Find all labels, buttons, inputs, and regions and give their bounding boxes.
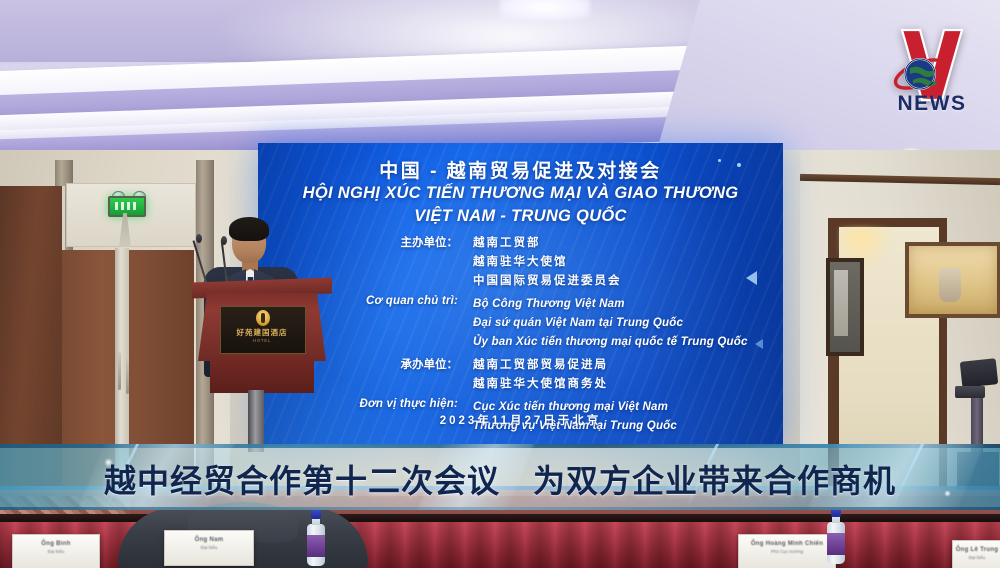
- lower-third-banner: 越中经贸合作第十二次会议 为双方企业带来合作商机: [0, 444, 1000, 510]
- screen-organizer-row: 主办单位：越南工贸部越南驻华大使馆中国国际贸易促进委员会: [258, 234, 783, 291]
- screen-organizer-value: 越南工贸部贸易促进局: [473, 356, 783, 375]
- framed-artwork: [826, 258, 864, 356]
- screen-organizer-values: 越南工贸部越南驻华大使馆中国国际贸易促进委员会: [473, 234, 783, 291]
- nameplate-name: Ông Nam: [165, 537, 253, 543]
- nameplate: Ông Nam Đại biểu: [164, 530, 254, 566]
- screen-organizer-values: 越南工贸部贸易促进局越南驻华大使馆商务处: [473, 356, 783, 394]
- screen-organizer-value: Ủy ban Xúc tiến thương mại quốc tế Trung…: [473, 333, 783, 352]
- nameplate-role: Đại biểu: [165, 545, 253, 550]
- podium-plaque-subtext: HOTEL: [222, 338, 302, 343]
- nameplate-name: Ông Bình: [13, 541, 99, 547]
- bottle-cap: [311, 510, 321, 519]
- nameplate-name: Ông Lê Trung: [953, 547, 1000, 553]
- screen-organizer-values: Bộ Công Thương Việt NamĐại sứ quán Việt …: [473, 295, 783, 352]
- hotel-emblem-icon: [256, 310, 270, 326]
- headline-text: 越中经贸合作第十二次会议 为双方企业带来合作商机: [0, 456, 1000, 502]
- screen-organizer-value: Đại sứ quán Việt Nam tại Trung Quốc: [473, 314, 783, 333]
- bottle-neck: [832, 516, 840, 523]
- nameplate: Ông Bình Đại biểu: [12, 534, 100, 568]
- screen-organizer-value: 越南驻华大使馆商务处: [473, 375, 783, 394]
- screen-title-vietnamese-line2: VIỆT NAM - TRUNG QUỐC: [258, 207, 783, 226]
- screen-organizer-value: 越南驻华大使馆: [473, 253, 783, 272]
- screen-date-line: 2023年11月27日于北京: [258, 412, 783, 428]
- screen-organizer-value: 越南工贸部: [473, 234, 783, 253]
- nameplate: Ông Lê Trung Đại biểu: [952, 540, 1000, 568]
- water-bottle: [826, 508, 846, 564]
- screen-organizer-row: Cơ quan chủ trì:Bộ Công Thương Việt NamĐ…: [258, 295, 783, 352]
- broadcast-frame: 中国 - 越南贸易促进及对接会 HỘI NGHỊ XÚC TIẾN THƯƠNG…: [0, 0, 1000, 568]
- speaker-hair: [229, 217, 269, 241]
- exit-sign-icon: [108, 196, 146, 217]
- podium-body: [210, 359, 314, 393]
- screen-title-chinese: 中国 - 越南贸易促进及对接会: [258, 156, 783, 183]
- door-left-far[interactable]: [0, 186, 65, 486]
- screen-organizer-value: 中国国际贸易促进委员会: [473, 272, 783, 291]
- wall-niche: [905, 242, 1000, 318]
- vnews-logo-wordmark: NEWS: [886, 92, 978, 116]
- screen-title-vietnamese-line1: HỘI NGHỊ XÚC TIẾN THƯƠNG MẠI VÀ GIAO THƯ…: [258, 184, 783, 203]
- nameplate-role: Phó Cục trưởng: [739, 549, 835, 554]
- water-bottle: [306, 510, 326, 566]
- podium: 好苑建国酒店 HOTEL: [192, 280, 332, 470]
- nameplate-role: Đại biểu: [13, 549, 99, 554]
- bottle-label: [307, 535, 325, 557]
- camera-body: [960, 358, 999, 388]
- microphone-head-icon: [196, 234, 202, 243]
- screen-organizer-value: Bộ Công Thương Việt Nam: [473, 295, 783, 314]
- door-handle[interactable]: [118, 352, 121, 390]
- nameplate: Ông Hoàng Minh Chiến Phó Cục trưởng: [738, 534, 836, 568]
- bottle-label: [827, 533, 845, 555]
- camera-lens: [955, 386, 985, 398]
- podium-column: [248, 390, 264, 452]
- nameplate-name: Ông Hoàng Minh Chiến: [739, 541, 835, 547]
- podium-plaque-text: 好苑建国酒店: [222, 327, 302, 338]
- door-handle[interactable]: [126, 356, 129, 394]
- led-presentation-screen: 中国 - 越南贸易促进及对接会 HỘI NGHỊ XÚC TIẾN THƯƠNG…: [258, 143, 783, 446]
- nameplate-role: Đại biểu: [953, 555, 1000, 560]
- screen-content: 中国 - 越南贸易促进及对接会 HỘI NGHỊ XÚC TIẾN THƯƠNG…: [258, 143, 783, 446]
- ceiling-panel-light: [500, 0, 590, 20]
- microphone-head-icon: [221, 236, 227, 245]
- niche-object: [939, 268, 961, 302]
- screen-organizer-rows: 主办单位：越南工贸部越南驻华大使馆中国国际贸易促进委员会Cơ quan chủ …: [258, 234, 783, 440]
- banner-bottom-rule: [0, 507, 1000, 510]
- screen-organizer-row: 承办单位：越南工贸部贸易促进局越南驻华大使馆商务处: [258, 356, 783, 394]
- bottle-neck: [312, 518, 320, 525]
